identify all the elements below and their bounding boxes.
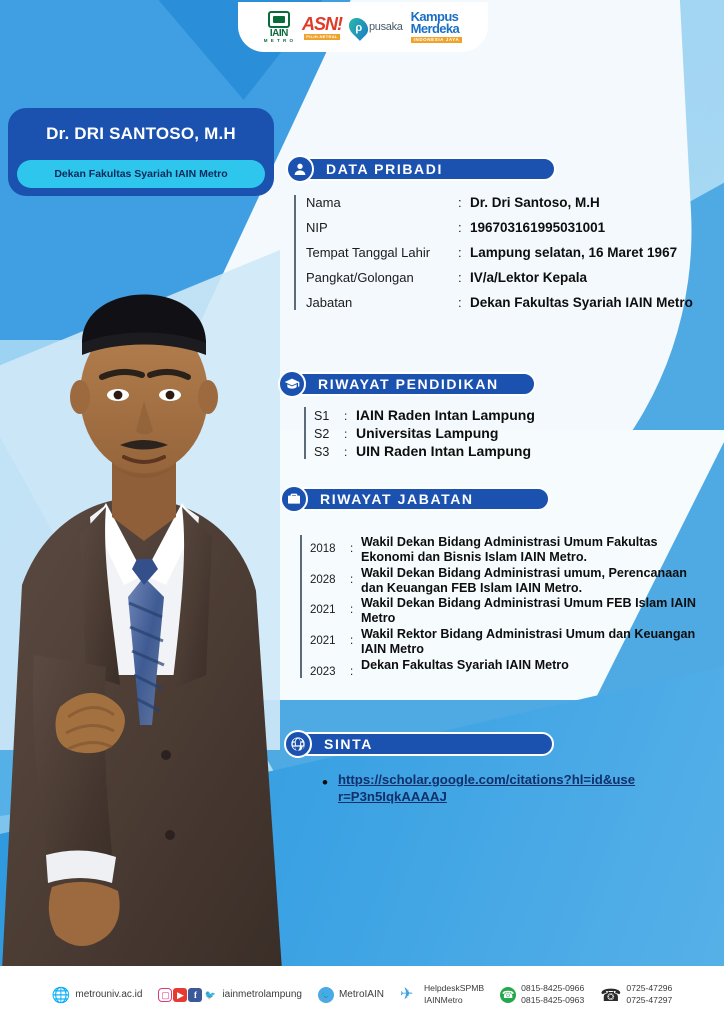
position-year: 2021 — [310, 596, 350, 616]
field-colon: : — [350, 596, 361, 616]
footer-social-label: iainmetrolampung — [222, 989, 302, 1001]
kampus-merdeka-logo: Kampus Merdeka INDONESIA JAYA — [411, 11, 463, 43]
position-year: 2021 — [310, 627, 350, 647]
section-header-data-pribadi: DATA PRIBADI — [286, 155, 693, 183]
facebook-icon: f — [188, 988, 202, 1002]
twitter-icon: 🐦 — [318, 987, 334, 1003]
field-colon: : — [458, 270, 470, 285]
education-level: S1 — [314, 409, 344, 423]
whatsapp-icon: ☎ — [500, 987, 516, 1003]
youtube-icon: ▶ — [173, 988, 187, 1002]
data-pribadi-table: Nama : Dr. Dri Santoso, M.H NIP : 196703… — [294, 195, 693, 310]
field-value: Dekan Fakultas Syariah IAIN Metro — [470, 295, 693, 310]
pusaka-droplet-icon: ρ — [345, 14, 372, 41]
field-value: IV/a/Lektor Kepala — [470, 270, 587, 285]
positions-table: 2018 : Wakil Dekan Bidang Administrasi U… — [300, 535, 709, 678]
field-colon: : — [458, 195, 470, 210]
field-label: Jabatan — [306, 295, 458, 310]
footer-contact-bar: 🌐 metrouniv.ac.id ▢ ▶ f 🐦 iainmetrolampu… — [0, 966, 724, 1024]
social-icon-group: ▢ ▶ f 🐦 — [158, 988, 217, 1002]
table-row: Nama : Dr. Dri Santoso, M.H — [306, 195, 693, 210]
field-value: 196703161995031001 — [470, 220, 605, 235]
footer-telegram[interactable]: ✈ HelpdeskSPMB IAINMetro — [400, 983, 484, 1006]
position-year: 2023 — [310, 658, 350, 678]
kampus-merdeka-line2: Merdeka — [411, 23, 463, 35]
education-institution: IAIN Raden Intan Lampung — [356, 407, 535, 423]
globe-icon — [284, 730, 312, 758]
field-colon: : — [350, 627, 361, 647]
scholar-profile-link[interactable]: https://scholar.google.com/citations?hl=… — [338, 772, 638, 806]
globe-icon: 🌐 — [52, 988, 71, 1003]
field-colon: : — [344, 427, 356, 441]
table-row: NIP : 196703161995031001 — [306, 220, 693, 235]
field-label: Pangkat/Golongan — [306, 270, 458, 285]
table-row: S3 : UIN Raden Intan Lampung — [314, 443, 536, 459]
sinta-body: • https://scholar.google.com/citations?h… — [322, 772, 638, 806]
telegram-icon: ✈ — [400, 987, 419, 1004]
education-table: S1 : IAIN Raden Intan Lampung S2 : Unive… — [304, 407, 536, 459]
table-row: 2023 : Dekan Fakultas Syariah IAIN Metro — [310, 658, 709, 678]
footer-website[interactable]: 🌐 metrouniv.ac.id — [52, 988, 143, 1003]
user-icon — [286, 155, 314, 183]
pusaka-mark: ρ — [355, 21, 362, 33]
footer-telegram-line1: HelpdeskSPMB — [424, 983, 484, 995]
logo-bar: IAIN M E T R O ASN! PILIH-NETRAL ρ pusak… — [238, 2, 488, 52]
footer-phone-line2: 0725-47297 — [626, 995, 672, 1007]
footer-twitter-label: MetroIAIN — [339, 989, 384, 1001]
asn-logo: ASN! PILIH-NETRAL — [302, 15, 342, 40]
table-row: Jabatan : Dekan Fakultas Syariah IAIN Me… — [306, 295, 693, 310]
field-colon: : — [350, 535, 361, 555]
section-title-sinta: SINTA — [296, 732, 554, 756]
footer-website-label: metrouniv.ac.id — [75, 989, 142, 1001]
field-colon: : — [344, 445, 356, 459]
table-row: 2018 : Wakil Dekan Bidang Administrasi U… — [310, 535, 709, 565]
asn-logo-line2: PILIH-NETRAL — [304, 34, 339, 40]
section-header-riwayat-jabatan: RIWAYAT JABATAN — [280, 485, 709, 513]
briefcase-icon — [280, 485, 308, 513]
field-colon: : — [350, 566, 361, 586]
footer-phone[interactable]: ☎ 0725-47296 0725-47297 — [600, 983, 672, 1006]
field-colon: : — [344, 409, 356, 423]
pusaka-label: pusaka — [369, 21, 403, 33]
footer-whatsapp-line2: 0815-8425-0963 — [521, 995, 584, 1007]
kampus-merdeka-line3: INDONESIA JAYA — [411, 37, 463, 43]
education-level: S2 — [314, 427, 344, 441]
iain-logo-line2: M E T R O — [264, 39, 294, 44]
field-label: Nama — [306, 195, 458, 210]
field-value: Lampung selatan, 16 Maret 1967 — [470, 245, 677, 260]
footer-telegram-line2: IAINMetro — [424, 995, 484, 1007]
asn-logo-line1: ASN! — [302, 15, 342, 33]
section-title-data-pribadi: DATA PRIBADI — [298, 157, 556, 181]
footer-social[interactable]: ▢ ▶ f 🐦 iainmetrolampung — [158, 988, 302, 1002]
education-institution: Universitas Lampung — [356, 425, 498, 441]
table-row: Tempat Tanggal Lahir : Lampung selatan, … — [306, 245, 693, 260]
footer-phone-line1: 0725-47296 — [626, 983, 672, 995]
field-value: Dr. Dri Santoso, M.H — [470, 195, 600, 210]
footer-whatsapp-numbers: 0815-8425-0966 0815-8425-0963 — [521, 983, 584, 1006]
table-row: S2 : Universitas Lampung — [314, 425, 536, 441]
field-colon: : — [458, 245, 470, 260]
footer-telegram-labels: HelpdeskSPMB IAINMetro — [424, 983, 484, 1006]
section-header-sinta: SINTA — [284, 730, 638, 758]
profile-poster: IAIN M E T R O ASN! PILIH-NETRAL ρ pusak… — [0, 0, 724, 1024]
section-riwayat-pendidikan: RIWAYAT PENDIDIKAN S1 : IAIN Raden Intan… — [278, 370, 536, 461]
graduation-cap-icon — [278, 370, 306, 398]
position-title: Wakil Dekan Bidang Administrasi umum, Pe… — [361, 566, 709, 596]
footer-whatsapp-line1: 0815-8425-0966 — [521, 983, 584, 995]
position-title: Wakil Rektor Bidang Administrasi Umum da… — [361, 627, 709, 657]
education-level: S3 — [314, 445, 344, 459]
position-title: Wakil Dekan Bidang Administrasi Umum Fak… — [361, 535, 709, 565]
field-colon: : — [350, 658, 361, 678]
telephone-icon: ☎ — [600, 987, 621, 1004]
education-institution: UIN Raden Intan Lampung — [356, 443, 531, 459]
section-header-riwayat-pendidikan: RIWAYAT PENDIDIKAN — [278, 370, 536, 398]
content-column: DATA PRIBADI Nama : Dr. Dri Santoso, M.H… — [0, 0, 724, 1024]
footer-twitter-account[interactable]: 🐦 MetroIAIN — [318, 987, 384, 1003]
field-colon: : — [458, 220, 470, 235]
section-title-riwayat-pendidikan: RIWAYAT PENDIDIKAN — [290, 372, 536, 396]
iain-metro-logo: IAIN M E T R O — [264, 11, 294, 44]
section-riwayat-jabatan: RIWAYAT JABATAN 2018 : Wakil Dekan Bidan… — [280, 485, 709, 679]
field-label: Tempat Tanggal Lahir — [306, 245, 458, 260]
table-row: S1 : IAIN Raden Intan Lampung — [314, 407, 536, 423]
table-row: Pangkat/Golongan : IV/a/Lektor Kepala — [306, 270, 693, 285]
iain-book-icon — [268, 11, 290, 28]
field-colon: : — [458, 295, 470, 310]
section-title-riwayat-jabatan: RIWAYAT JABATAN — [292, 487, 550, 511]
position-title: Wakil Dekan Bidang Administrasi Umum FEB… — [361, 596, 709, 626]
footer-whatsapp[interactable]: ☎ 0815-8425-0966 0815-8425-0963 — [500, 983, 584, 1006]
position-year: 2018 — [310, 535, 350, 555]
section-sinta: SINTA • https://scholar.google.com/citat… — [284, 730, 638, 806]
instagram-icon: ▢ — [158, 988, 172, 1002]
position-year: 2028 — [310, 566, 350, 586]
position-title: Dekan Fakultas Syariah IAIN Metro — [361, 658, 569, 673]
section-data-pribadi: DATA PRIBADI Nama : Dr. Dri Santoso, M.H… — [286, 155, 693, 320]
pusaka-logo: ρ pusaka — [350, 17, 403, 38]
footer-phone-numbers: 0725-47296 0725-47297 — [626, 983, 672, 1006]
table-row: 2021 : Wakil Dekan Bidang Administrasi U… — [310, 596, 709, 626]
table-row: 2028 : Wakil Dekan Bidang Administrasi u… — [310, 566, 709, 596]
list-bullet: • — [322, 772, 328, 791]
field-label: NIP — [306, 220, 458, 235]
table-row: 2021 : Wakil Rektor Bidang Administrasi … — [310, 627, 709, 657]
twitter-icon: 🐦 — [203, 988, 217, 1002]
